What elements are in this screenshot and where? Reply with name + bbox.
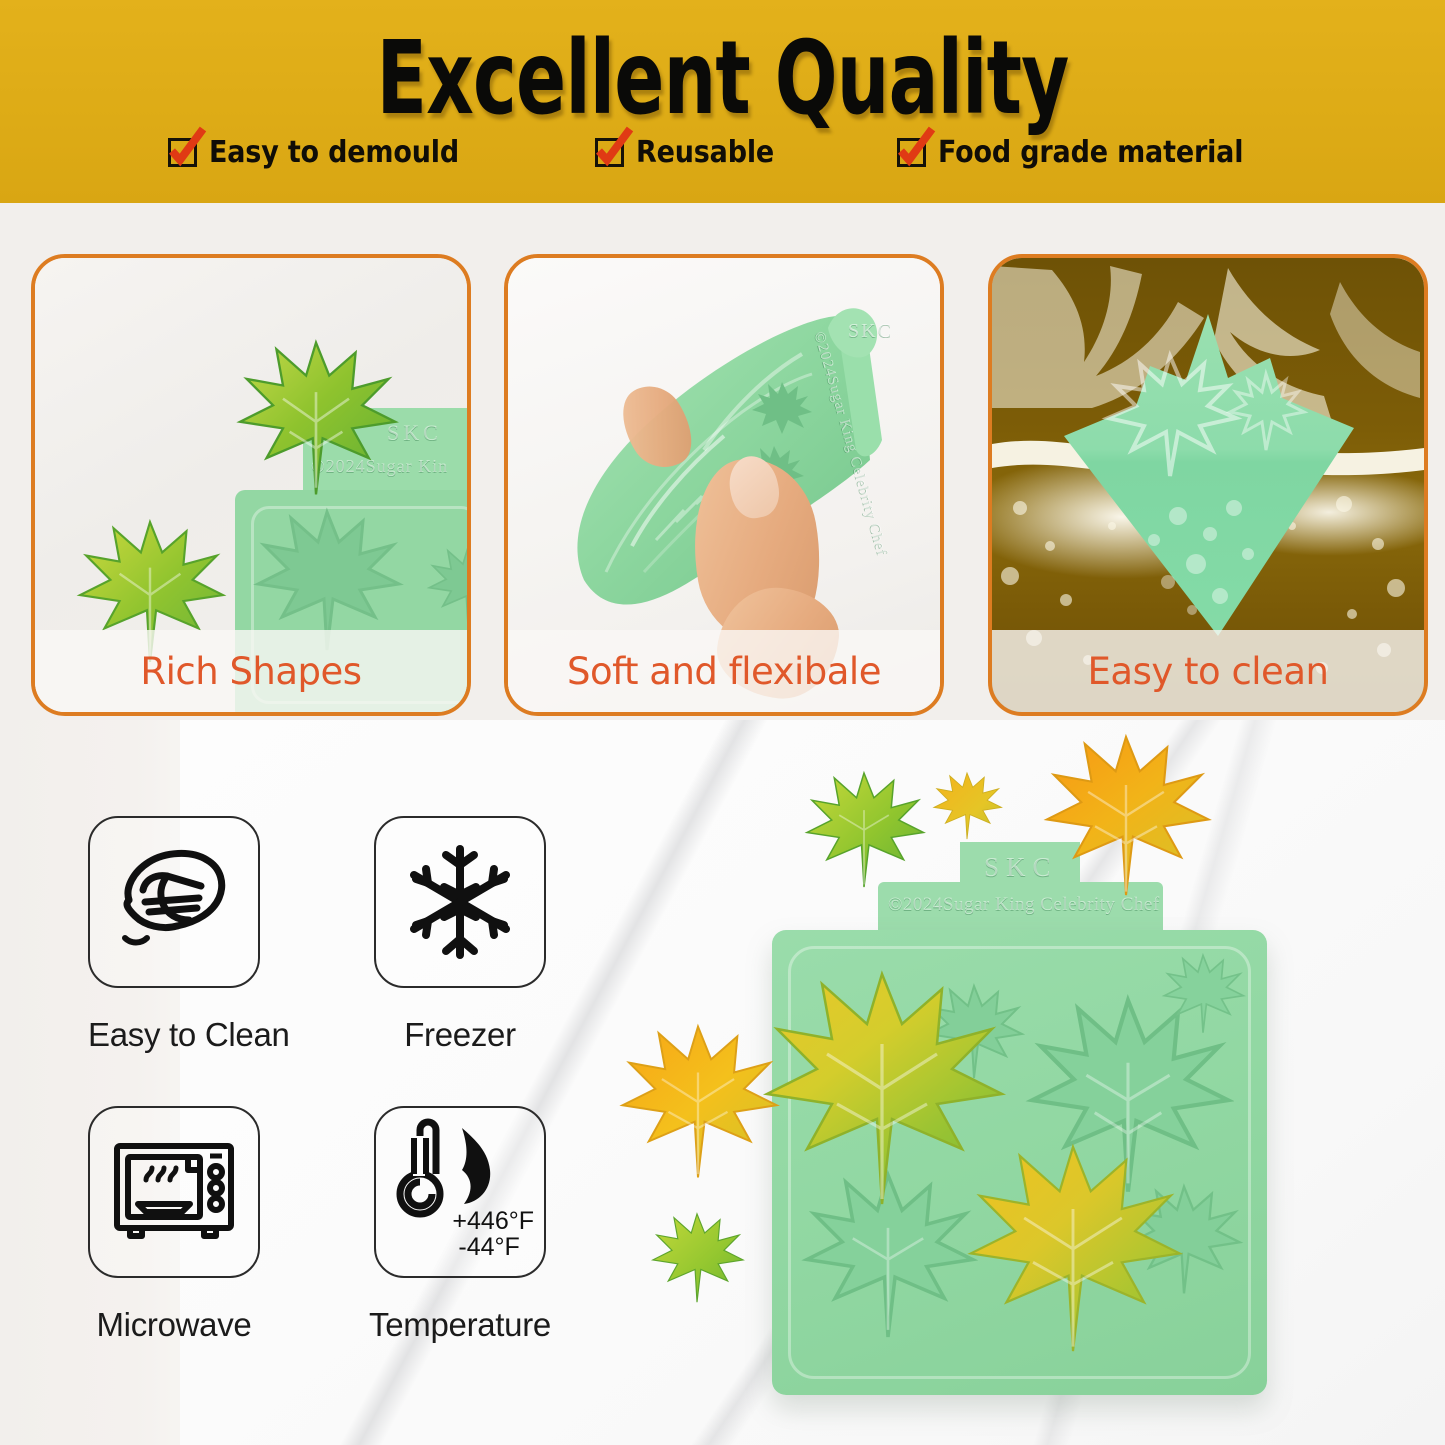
loose-leaf-large-orange [1038, 730, 1214, 902]
panel-caption: Soft and flexibale [508, 630, 940, 712]
mold-emboss-brand: SKC [848, 320, 893, 343]
temp-low: -44°F [458, 1234, 534, 1260]
feature-label: Freezer [360, 1016, 560, 1054]
temperature-values: +446°F -44°F [452, 1208, 534, 1261]
bullet-label: Easy to demould [209, 135, 459, 170]
mold-cavity-tiny [1160, 952, 1246, 1036]
bullet-reusable: Reusable [595, 135, 789, 170]
panel-caption: Rich Shapes [35, 630, 467, 712]
microwave-oven-icon [112, 1140, 236, 1244]
bullet-label: Food grade material [938, 135, 1243, 170]
molded-leaf-lower [960, 1138, 1186, 1360]
feature-label: Temperature [360, 1306, 560, 1344]
feature-microwave: Microwave [88, 1106, 274, 1344]
panel-caption: Easy to clean [992, 630, 1424, 712]
feature-easy-to-clean: Easy to Clean [88, 816, 348, 1054]
sugarpaste-leaf-green [231, 336, 401, 501]
bullet-food-grade-material: Food grade material [897, 135, 1277, 170]
panel-easy-to-clean[interactable]: Easy to clean [988, 254, 1428, 716]
feature-icon-box [88, 816, 260, 988]
hand-wiping-cloth-icon [115, 846, 233, 958]
feature-temperature: +446°F -44°F Temperature [374, 1106, 560, 1344]
panel-rich-shapes[interactable]: ©2024Sugar Kin SKC [31, 254, 471, 716]
bullet-label: Reusable [636, 135, 774, 170]
temp-high: +446°F [452, 1208, 534, 1234]
panel-soft-and-flexible[interactable]: ©2024Sugar King Celebrity Chef SKC Soft … [504, 254, 944, 716]
feature-icon-box [374, 816, 546, 988]
feature-label: Easy to Clean [88, 1016, 348, 1054]
page-title: Excellent Quality [101, 20, 1344, 138]
product-photo: SKC ©2024Sugar King Celebrity Chef [600, 730, 1445, 1445]
feature-label: Microwave [74, 1306, 274, 1344]
loose-leaf-small-orange [930, 770, 1004, 842]
silicone-mold-in-water [1058, 310, 1358, 640]
checkbox-checked-icon [595, 138, 624, 167]
header-banner: Excellent Quality Easy to demould Reusab… [0, 0, 1445, 203]
infographic-page: Excellent Quality Easy to demould Reusab… [0, 0, 1445, 1445]
bullet-easy-to-demould: Easy to demould [168, 135, 487, 170]
feature-icon-box: +446°F -44°F [374, 1106, 546, 1278]
loose-leaf-orange-yellow [614, 1020, 782, 1184]
loose-leaf-small-green [648, 1210, 746, 1306]
loose-leaf-green [800, 768, 928, 892]
mold-cavity-leaf-small [425, 544, 471, 628]
snowflake-icon [404, 843, 516, 961]
checkbox-checked-icon [897, 138, 926, 167]
feature-icon-box [88, 1106, 260, 1278]
feature-bullet-list: Easy to demould Reusable Food grade mate… [0, 135, 1445, 170]
checkbox-checked-icon [168, 138, 197, 167]
silicone-mold-plate [772, 930, 1267, 1395]
feature-freezer: Freezer [374, 816, 560, 1054]
